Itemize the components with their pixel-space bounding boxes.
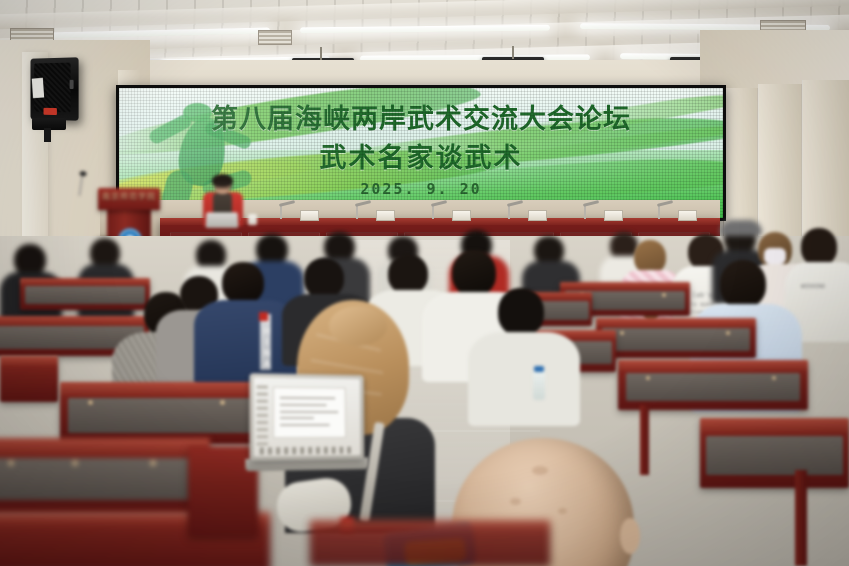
person-ear xyxy=(620,518,640,554)
hair-bun xyxy=(329,306,387,346)
screen-dock xyxy=(260,447,354,454)
wall-mounted-pa-speaker xyxy=(31,57,79,120)
laptop-lid xyxy=(249,373,364,461)
ceiling-air-vent xyxy=(258,30,292,45)
desk-knob xyxy=(150,460,156,466)
document-text-line xyxy=(280,397,335,399)
bench-desk xyxy=(20,278,150,310)
person-head xyxy=(634,240,666,274)
person-torso xyxy=(468,332,580,426)
seated-speaker xyxy=(200,176,246,226)
bench-desk-top xyxy=(20,278,150,285)
screen-title-line-1: 第八届海峡两岸武术交流大会论坛 xyxy=(119,97,723,136)
bench-desk-top xyxy=(0,316,150,325)
face-mask xyxy=(764,248,786,264)
bench-desk-top xyxy=(0,438,210,455)
desk-leg xyxy=(640,405,649,475)
table-nameplate xyxy=(300,210,319,221)
person-head xyxy=(222,262,264,304)
desk-knob xyxy=(220,400,225,405)
table-nameplate xyxy=(604,210,623,221)
speaker-cup xyxy=(248,214,257,225)
table-nameplate xyxy=(528,210,547,221)
desk-knob xyxy=(88,400,93,405)
document-text-line xyxy=(280,410,338,412)
person-head xyxy=(801,228,837,266)
speaker-port xyxy=(70,80,74,89)
bench-desk-top xyxy=(60,382,260,396)
document-text-line xyxy=(280,404,327,406)
desk-knob xyxy=(772,376,776,380)
speaker-label xyxy=(32,78,44,98)
bench-desk xyxy=(60,382,260,444)
bench-desk xyxy=(618,360,808,410)
speaker-glasses xyxy=(215,183,232,189)
desk-knob xyxy=(646,376,650,380)
person-head xyxy=(304,258,344,298)
laptop-screen[interactable] xyxy=(254,377,361,456)
bench-desk-pad xyxy=(706,436,843,475)
scalp-mark xyxy=(532,466,548,475)
table-microphone xyxy=(356,206,358,219)
desk-knob xyxy=(620,331,624,335)
lecture-hall-photo: 第八届海峡两岸武术交流大会论坛 武术名家谈武术 2025. 9. 20 xyxy=(0,0,849,566)
bench-desk-top xyxy=(700,418,849,433)
screen-title-line-2: 武术名家谈武术 xyxy=(119,136,723,175)
table-nameplate xyxy=(452,210,471,221)
bench-desk-top xyxy=(618,360,808,371)
bench-desk-pad xyxy=(0,458,201,501)
desk-knob xyxy=(726,331,730,335)
bench-desk-top xyxy=(596,318,756,327)
attendee-laptop xyxy=(249,373,364,471)
table-microphone xyxy=(508,206,510,219)
lectern-top: 南京师范学院 xyxy=(98,188,160,210)
bench-desk-top xyxy=(310,520,550,530)
desk-knob xyxy=(662,293,666,297)
person-head xyxy=(452,250,496,296)
table-microphone xyxy=(658,206,660,219)
desk-leg xyxy=(795,470,807,566)
person-head xyxy=(388,254,428,294)
bench-desk xyxy=(596,318,756,358)
table-nameplate xyxy=(678,210,697,221)
bench-desk xyxy=(700,418,849,488)
speaker-bracket-arm xyxy=(44,128,51,142)
table-microphone xyxy=(280,206,282,219)
shirt-print-text: WEEKEND xyxy=(801,284,826,290)
speaker-brand-logo xyxy=(44,108,57,115)
table-microphone xyxy=(584,206,586,219)
bench-desk-pad xyxy=(25,286,145,304)
person-head xyxy=(720,260,766,308)
document-text-line xyxy=(280,424,329,426)
bench-desk xyxy=(0,356,58,402)
hair-strand xyxy=(311,358,384,374)
lectern-inscription: 南京师范学院 xyxy=(101,191,157,202)
bench-desk-top xyxy=(0,356,58,366)
screen-sidebar xyxy=(257,385,268,445)
table-microphone xyxy=(432,206,434,219)
document-text-line xyxy=(280,417,314,419)
bench-desk-top xyxy=(560,282,690,289)
bench-desk xyxy=(0,438,210,514)
scalp-mark xyxy=(510,498,521,505)
stage-light-stem xyxy=(512,46,514,59)
table-nameplate xyxy=(376,210,395,221)
screen-document xyxy=(273,387,345,438)
bench-desk-foreground xyxy=(310,520,550,566)
person-head xyxy=(498,288,544,336)
speaker-laptop xyxy=(206,212,239,228)
stage-light-stem xyxy=(320,47,322,60)
desk-knob xyxy=(72,460,78,466)
baseball-cap xyxy=(720,220,762,236)
bottle-cap xyxy=(534,366,544,372)
desk-knob xyxy=(8,460,14,466)
scalp-mark xyxy=(558,508,567,514)
water-bottle xyxy=(533,370,545,400)
